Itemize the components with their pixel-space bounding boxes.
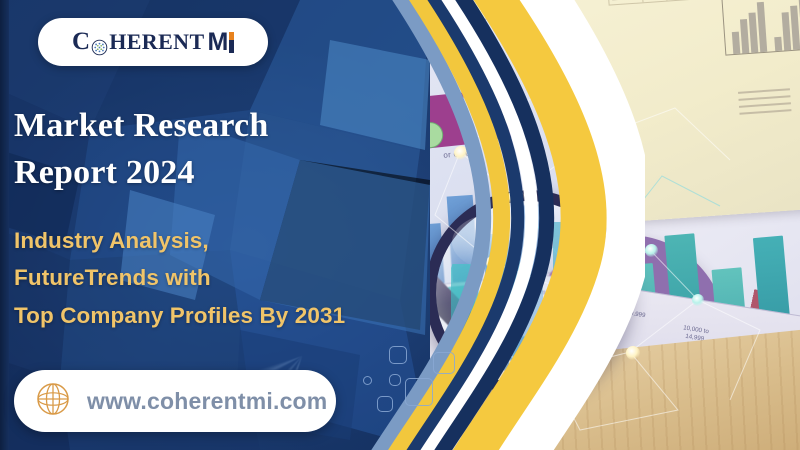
subhead-line-2: FutureTrends with xyxy=(14,259,345,296)
globe-mesh-icon xyxy=(91,35,108,52)
brand-logo[interactable]: C HERENT M xyxy=(38,18,268,66)
decorative-squares xyxy=(345,332,465,442)
data-table-small-icon xyxy=(738,88,792,118)
website-url-text: www.coherentmi.com xyxy=(87,388,327,415)
subhead-line-3: Top Company Profiles By 2031 xyxy=(14,297,345,334)
left-edge-strip xyxy=(0,0,9,450)
rounded-square-outline-icon xyxy=(405,378,433,406)
logo-word-herent: HERENT xyxy=(109,29,204,55)
bar-chart-grayscale xyxy=(712,0,800,71)
rounded-square-outline-icon xyxy=(433,352,455,374)
page-title: Market Research Report 2024 xyxy=(14,103,268,197)
globe-wireframe-icon xyxy=(36,382,70,421)
logo-letter-c: C xyxy=(72,28,90,56)
headline-line-2: Report 2024 xyxy=(14,150,268,197)
logo-mark-i-accent xyxy=(229,32,234,53)
subhead-line-1: Industry Analysis, xyxy=(14,222,345,259)
rounded-square-outline-icon xyxy=(389,346,407,364)
rounded-square-outline-icon xyxy=(389,374,401,386)
rounded-square-outline-icon xyxy=(377,396,393,412)
page-subtitle: Industry Analysis, FutureTrends with Top… xyxy=(14,222,345,334)
report-banner: or older Less than 5 xyxy=(0,0,800,450)
headline-line-1: Market Research xyxy=(14,103,268,150)
website-url-pill[interactable]: www.coherentmi.com xyxy=(14,370,336,432)
brand-logo-text: C HERENT M xyxy=(72,28,234,57)
logo-mark-m: M xyxy=(208,28,229,57)
rounded-square-outline-icon xyxy=(363,376,372,385)
